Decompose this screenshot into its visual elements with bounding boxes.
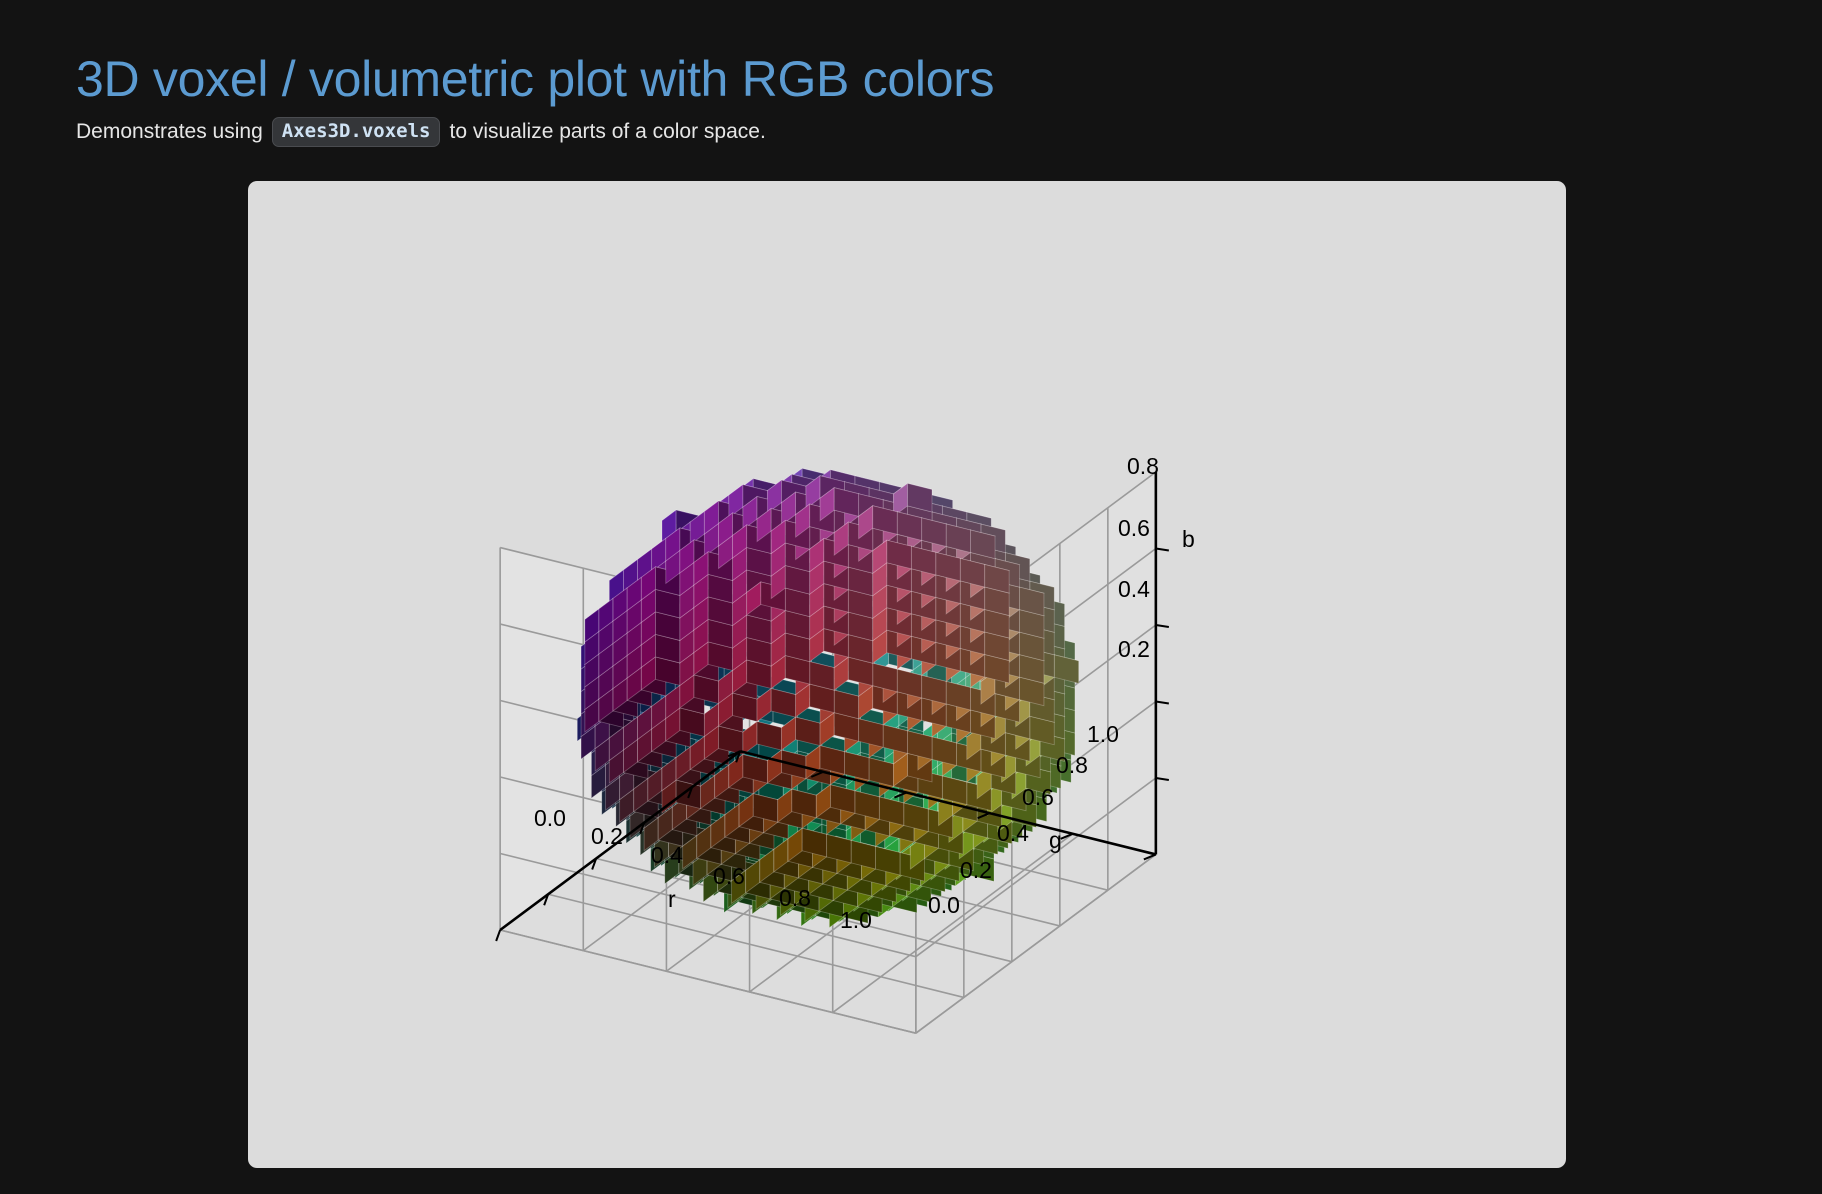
x-axis-tick-2: 0.4 [651,842,683,869]
x-axis-tick-4: 0.8 [779,885,811,912]
x-axis-tick-1: 0.2 [591,823,623,850]
z-axis-tick-2: 0.6 [1118,515,1150,542]
y-axis-tick-3: 0.6 [1022,784,1054,811]
subtitle-suffix: to visualize parts of a color space. [449,120,765,144]
y-axis-tick-5: 1.0 [1087,721,1119,748]
z-axis-tick-0: 0.2 [1118,636,1150,663]
y-axis-tick-4: 0.8 [1056,752,1088,779]
z-axis-label: b [1182,526,1195,553]
page-root: 3D voxel / volumetric plot with RGB colo… [0,0,1822,1194]
x-axis-tick-3: 0.6 [713,863,745,890]
y-axis-tick-0: 0.0 [928,892,960,919]
page-subtitle: Demonstrates using Axes3D.voxels to visu… [76,117,766,147]
axes3d-voxel-plot[interactable] [248,181,1566,1168]
x-axis-tick-0: 0.0 [534,805,566,832]
inline-code-axes3d-voxels: Axes3D.voxels [272,117,441,147]
y-axis-tick-2: 0.4 [997,820,1029,847]
y-axis-label: g [1049,827,1062,854]
z-axis-tick-3: 0.8 [1127,453,1159,480]
matplotlib-figure[interactable]: 0.00.20.40.60.81.00.00.20.40.60.81.00.20… [248,181,1566,1168]
page-title: 3D voxel / volumetric plot with RGB colo… [76,50,994,108]
x-axis-tick-5: 1.0 [840,907,872,934]
plot-canvas [248,181,1566,1168]
x-axis-label: r [668,886,676,913]
y-axis-tick-1: 0.2 [960,857,992,884]
subtitle-prefix: Demonstrates using [76,120,263,144]
z-axis-tick-1: 0.4 [1118,576,1150,603]
